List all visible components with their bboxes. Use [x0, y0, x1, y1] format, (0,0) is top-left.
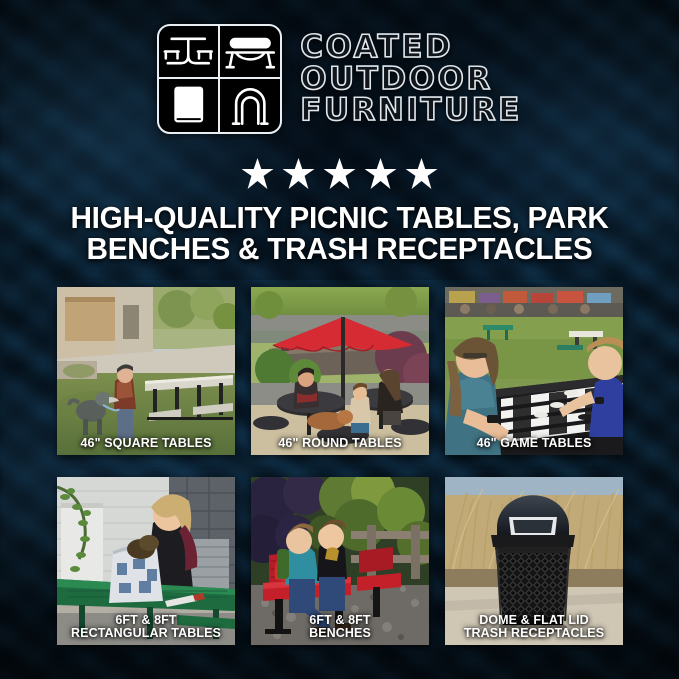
bike-rack-arch-icon [220, 79, 281, 132]
caption-line: BENCHES [255, 627, 425, 640]
product-grid: 46" SQUARE TABLES [57, 287, 622, 645]
star-icon [365, 158, 397, 189]
product-caption-round-tables: 46" ROUND TABLES [251, 437, 429, 450]
product-tile-trash-receptacles[interactable]: DOME & FLAT LID TRASH RECEPTACLES [445, 477, 623, 645]
poster: COATED OUTDOOR FURNITURE HIGH-QUALITY PI… [0, 0, 679, 679]
brand-logo: COATED OUTDOOR FURNITURE [0, 24, 679, 134]
star-icon [283, 158, 315, 189]
trash-receptacle-icon [159, 79, 220, 132]
brand-name-line-2: OUTDOOR [300, 64, 522, 94]
star-icon [242, 158, 274, 189]
product-tile-game-tables[interactable]: 46" GAME TABLES [445, 287, 623, 455]
caption-line: RECTANGULAR TABLES [61, 627, 231, 640]
product-caption-trash-receptacles: DOME & FLAT LID TRASH RECEPTACLES [445, 614, 623, 640]
brand-name: COATED OUTDOOR FURNITURE [300, 32, 522, 125]
caption-line: TRASH RECEPTACLES [449, 627, 619, 640]
product-caption-game-tables: 46" GAME TABLES [445, 437, 623, 450]
product-tile-square-tables[interactable]: 46" SQUARE TABLES [57, 287, 235, 455]
brand-name-line-1: COATED [300, 32, 522, 62]
caption-line: 46" GAME TABLES [449, 437, 619, 450]
logo-icon-grid [157, 24, 282, 134]
product-photo-round-tables [251, 287, 429, 455]
page-title: HIGH-QUALITY PICNIC TABLES, PARK BENCHES… [14, 202, 666, 264]
product-photo-square-tables [57, 287, 235, 455]
product-tile-round-tables[interactable]: 46" ROUND TABLES [251, 287, 429, 455]
park-bench-icon [220, 26, 281, 79]
star-rating [0, 158, 679, 189]
product-caption-square-tables: 46" SQUARE TABLES [57, 437, 235, 450]
headline-line-1: HIGH-QUALITY PICNIC TABLES, PARK [14, 202, 666, 233]
product-tile-rectangular-tables[interactable]: 6FT & 8FT RECTANGULAR TABLES [57, 477, 235, 645]
product-caption-benches: 6FT & 8FT BENCHES [251, 614, 429, 640]
star-icon [406, 158, 438, 189]
product-tile-benches[interactable]: 6FT & 8FT BENCHES [251, 477, 429, 645]
star-icon [324, 158, 356, 189]
pedestal-picnic-table-icon [159, 26, 220, 79]
caption-line: 46" ROUND TABLES [255, 437, 425, 450]
product-caption-rectangular-tables: 6FT & 8FT RECTANGULAR TABLES [57, 614, 235, 640]
headline-line-2: BENCHES & TRASH RECEPTACLES [14, 233, 666, 264]
caption-line: 46" SQUARE TABLES [61, 437, 231, 450]
product-photo-game-tables [445, 287, 623, 455]
brand-name-line-3: FURNITURE [300, 95, 522, 125]
